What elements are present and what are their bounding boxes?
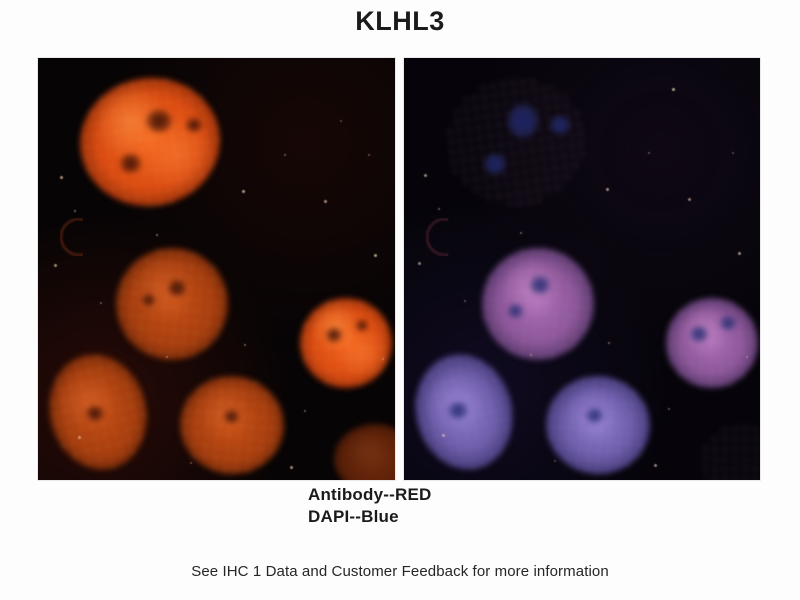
nucleolus — [168, 280, 186, 296]
nucleolus — [530, 276, 550, 294]
nucleolus — [326, 328, 342, 342]
panel-antibody-red[interactable] — [38, 58, 395, 480]
nucleolus — [586, 408, 603, 423]
panel-merged-dapi[interactable] — [404, 58, 761, 480]
panel-merged-dapi-image — [404, 58, 761, 480]
nucleolus — [508, 104, 538, 138]
nucleus-speckles — [666, 298, 758, 388]
nucleolus — [356, 320, 368, 331]
nucleus — [300, 298, 392, 388]
nucleolus — [484, 154, 506, 174]
legend-line-dapi: DAPI--Blue — [308, 506, 431, 528]
nucleolus — [86, 406, 104, 421]
page-title: KLHL3 — [0, 6, 800, 37]
channel-legend: Antibody--RED DAPI--Blue — [308, 484, 431, 528]
nucleolus — [448, 402, 468, 419]
nucleolus — [508, 304, 523, 318]
nucleolus — [146, 110, 172, 132]
figure-page: { "figure": { "title": "KLHL3", "legend_… — [0, 0, 800, 600]
panel-antibody-red-image — [38, 58, 395, 480]
nucleolus — [720, 316, 736, 330]
nucleolus — [142, 294, 155, 306]
nucleolus — [690, 326, 708, 342]
footnote: See IHC 1 Data and Customer Feedback for… — [0, 563, 800, 580]
nucleolus — [120, 154, 141, 173]
nucleolus — [224, 410, 239, 423]
panel-row — [38, 58, 760, 480]
nucleolus — [186, 118, 202, 132]
nucleus-speckles — [300, 298, 392, 388]
nucleus — [666, 298, 758, 388]
nucleolus — [550, 116, 570, 134]
legend-line-antibody: Antibody--RED — [308, 484, 431, 506]
